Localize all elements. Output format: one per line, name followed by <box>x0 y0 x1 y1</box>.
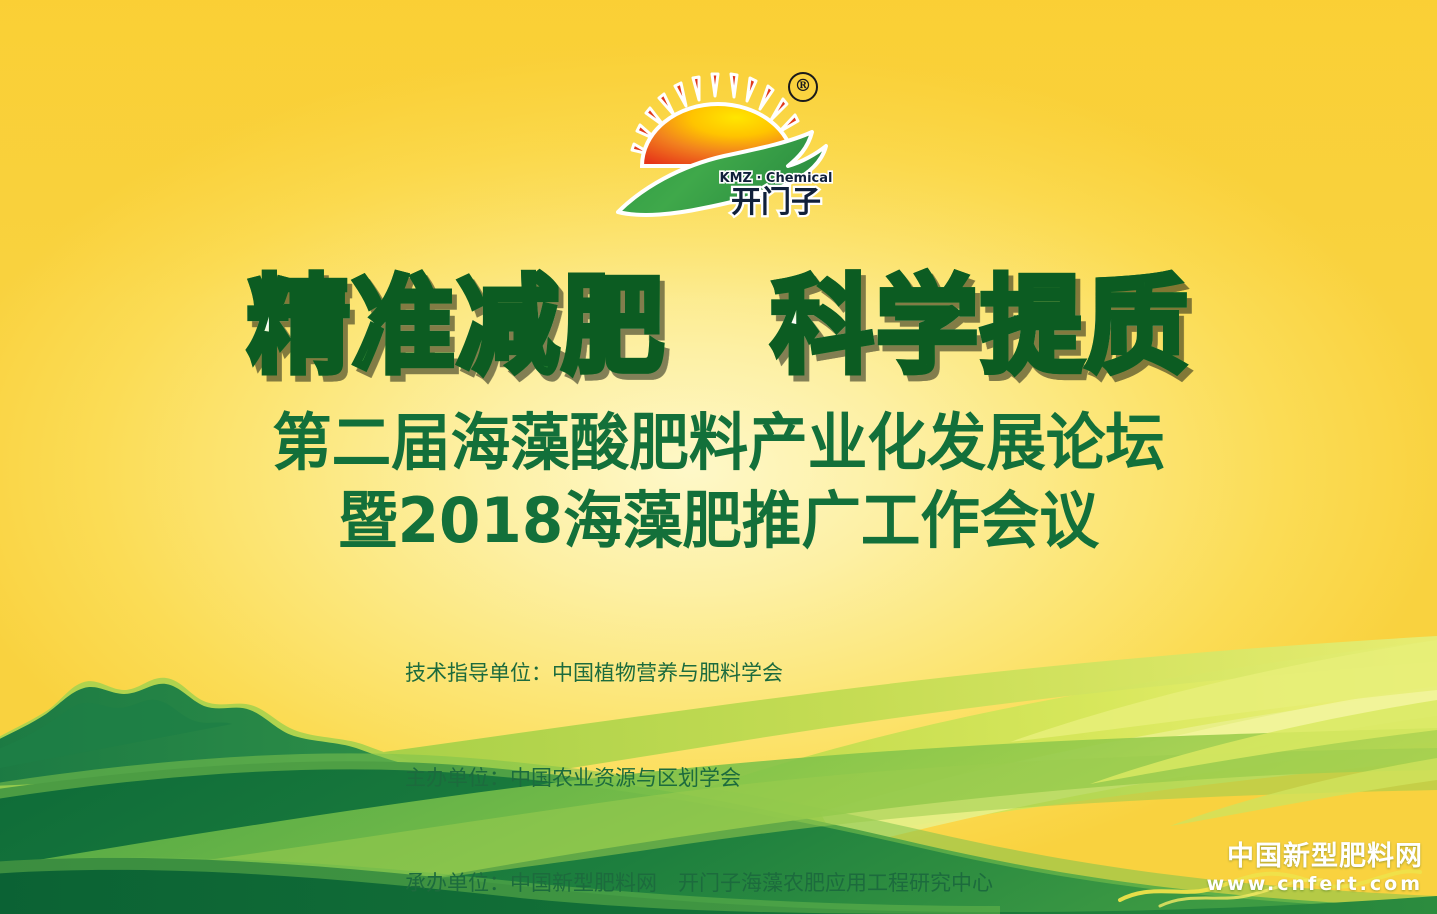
conference-poster: KMZ · Chemical 开门子 ® 精准减肥 科学提质 第二届海藻酸肥料产… <box>0 0 1437 914</box>
registered-trademark-icon: ® <box>788 72 818 102</box>
watermark-url: www.cnfert.com <box>1207 872 1423 896</box>
subtitle-line-2: 暨2018海藻肥推广工作会议 <box>29 482 1409 560</box>
organizer-info-block: 技术指导单位：中国植物营养与肥料学会 主办单位：中国农业资源与区划学会 承办单位… <box>405 586 1036 914</box>
watermark-site-name: 中国新型肥料网 <box>1207 842 1423 872</box>
site-watermark: 中国新型肥料网 www.cnfert.com <box>1207 842 1423 896</box>
poster-headline: 精准减肥 科学提质 <box>22 268 1416 386</box>
company-logo: KMZ · Chemical 开门子 ® <box>612 62 842 242</box>
info-line-technical-guidance: 技术指导单位：中国植物营养与肥料学会 <box>405 656 1036 691</box>
info-line-organizer: 主办单位：中国农业资源与区划学会 <box>405 761 1036 796</box>
subtitle-line-1: 第二届海藻酸肥料产业化发展论坛 <box>29 404 1409 482</box>
info-line-co-organizer: 承办单位：中国新型肥料网 开门子海藻农肥应用工程研究中心 <box>405 866 1036 901</box>
poster-subtitle: 第二届海藻酸肥料产业化发展论坛 暨2018海藻肥推广工作会议 <box>29 404 1409 560</box>
logo-brand-cn: 开门子 <box>731 185 821 220</box>
logo-brand-latin: KMZ · Chemical <box>720 171 833 186</box>
